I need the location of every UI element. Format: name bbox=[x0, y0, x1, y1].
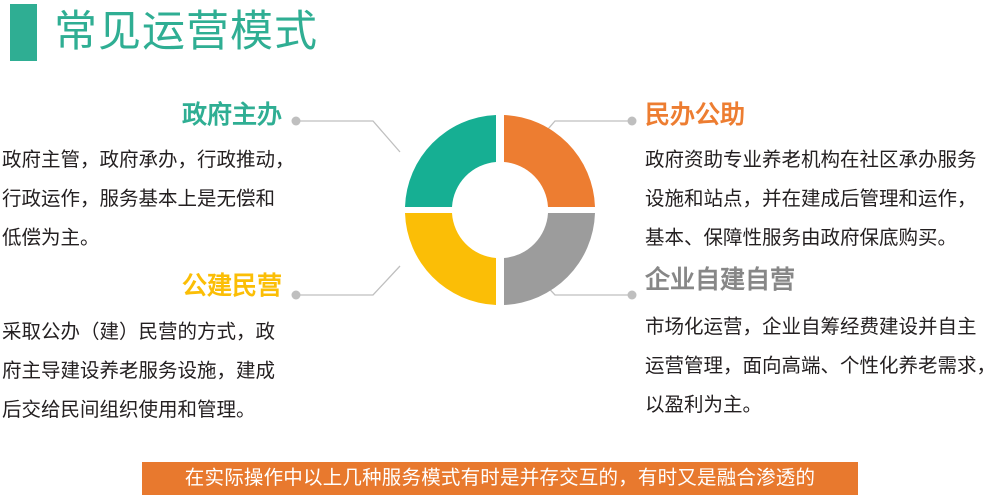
footer-text: 在实际操作中以上几种服务模式有时是并存交互的，有时又是融合渗透的 bbox=[185, 462, 815, 495]
quadrant-enterprise-self: 企业自建自营 市场化运营，企业自筹经费建设并自主 运营管理，面向高端、个性化养老… bbox=[645, 265, 1000, 425]
footer-banner: 在实际操作中以上几种服务模式有时是并存交互的，有时又是融合渗透的 bbox=[142, 462, 858, 495]
quadrant-government: 政府主办 政府主管，政府承办，行政推动， 行政运作，服务基本上是无偿和 低偿为主… bbox=[0, 100, 300, 258]
quadrant-label-public-built-private-run: 公建民营 bbox=[0, 271, 300, 301]
quadrant-label-government: 政府主办 bbox=[0, 100, 300, 130]
body-line: 行政运作，服务基本上是无偿和 bbox=[2, 180, 300, 219]
donut-segment-private-public-aid[interactable] bbox=[504, 115, 595, 207]
connector-dot-private-public-aid bbox=[628, 117, 637, 126]
donut-segment-public-built-private-run[interactable] bbox=[405, 213, 496, 305]
donut-diagram bbox=[398, 103, 603, 318]
body-line: 以盈利为主。 bbox=[645, 386, 1000, 425]
donut-segment-government[interactable] bbox=[405, 115, 496, 207]
body-line: 政府主管，政府承办，行政推动， bbox=[2, 141, 300, 180]
body-line: 低偿为主。 bbox=[2, 219, 300, 258]
quadrant-body-enterprise-self: 市场化运营，企业自筹经费建设并自主 运营管理，面向高端、个性化养老需求， 以盈利… bbox=[645, 308, 1000, 425]
body-line: 设施和站点，并在建成后管理和运作， bbox=[645, 180, 1000, 219]
connector-government bbox=[292, 117, 401, 153]
quadrant-label-private-public-aid: 民办公助 bbox=[645, 100, 1000, 130]
body-line: 基本、保障性服务由政府保底购买。 bbox=[645, 219, 1000, 258]
body-line: 采取公办（建）民营的方式，政 bbox=[2, 313, 300, 352]
connector-dot-enterprise-self bbox=[628, 291, 637, 300]
donut-segment-enterprise-self[interactable] bbox=[504, 213, 595, 305]
body-line: 政府资助专业养老机构在社区承办服务 bbox=[645, 141, 1000, 180]
body-line: 府主导建设养老服务设施，建成 bbox=[2, 352, 300, 391]
quadrant-body-government: 政府主管，政府承办，行政推动， 行政运作，服务基本上是无偿和 低偿为主。 bbox=[0, 141, 300, 258]
quadrant-body-private-public-aid: 政府资助专业养老机构在社区承办服务 设施和站点，并在建成后管理和运作， 基本、保… bbox=[645, 141, 1000, 258]
quadrant-body-public-built-private-run: 采取公办（建）民营的方式，政 府主导建设养老服务设施，建成 后交给民间组织使用和… bbox=[0, 313, 300, 430]
quadrant-public-built-private-run: 公建民营 采取公办（建）民营的方式，政 府主导建设养老服务设施，建成 后交给民间… bbox=[0, 271, 300, 430]
body-line: 后交给民间组织使用和管理。 bbox=[2, 391, 300, 430]
page-title: 常见运营模式 bbox=[54, 8, 318, 56]
title-accent-bar bbox=[10, 4, 37, 61]
body-line: 运营管理，面向高端、个性化养老需求， bbox=[645, 347, 1000, 386]
quadrant-label-enterprise-self: 企业自建自营 bbox=[645, 265, 1000, 295]
connector-public-built-private-run bbox=[292, 266, 401, 300]
body-line: 市场化运营，企业自筹经费建设并自主 bbox=[645, 308, 1000, 347]
page-title-block: 常见运营模式 bbox=[10, 2, 318, 62]
quadrant-private-public-aid: 民办公助 政府资助专业养老机构在社区承办服务 设施和站点，并在建成后管理和运作，… bbox=[645, 100, 1000, 258]
